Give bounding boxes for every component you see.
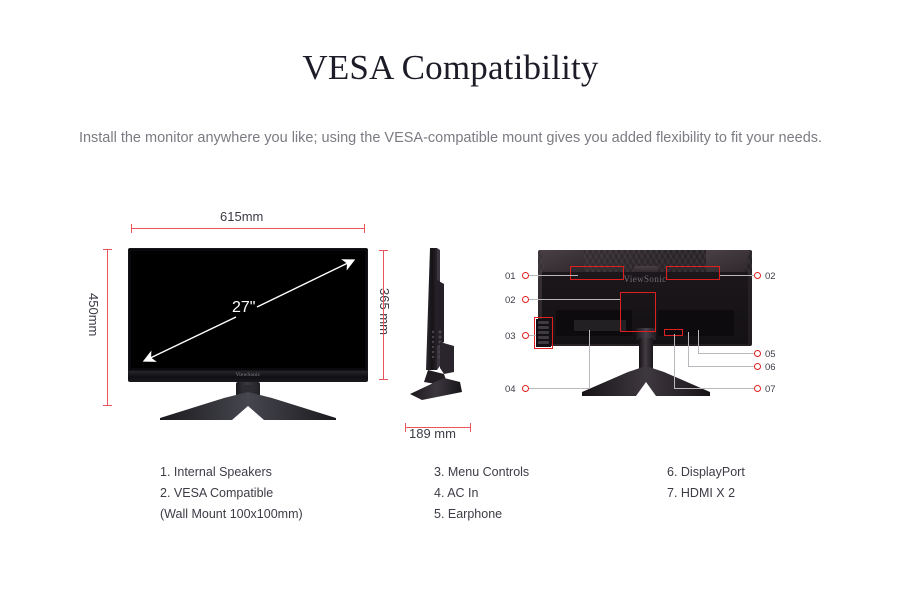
front-monitor-chin: ViewSonic — [128, 371, 368, 382]
rear-monitor-base — [582, 366, 710, 396]
highlight-speaker-left — [570, 266, 624, 280]
callout-label-04-left: 04 — [505, 384, 516, 395]
menu-button-1[interactable] — [538, 321, 549, 324]
menu-button-3[interactable] — [538, 331, 549, 334]
rear-vent-grille — [574, 320, 626, 331]
side-depth-label: 189 mm — [409, 426, 456, 441]
callout-label-06: 06 — [765, 362, 776, 373]
menu-control-pad[interactable] — [536, 319, 551, 347]
callout-leader-02-right — [720, 275, 755, 276]
callout-marker-04-left — [522, 385, 529, 392]
side-depth-cap-left — [405, 423, 406, 432]
callout-leader-05 — [698, 353, 755, 354]
front-height-cap-top — [103, 249, 112, 250]
legend-item: 1. Internal Speakers — [160, 462, 303, 483]
vesa-compatibility-page: VESA Compatibility Install the monitor a… — [0, 0, 901, 600]
legend-item: 4. AC In — [434, 483, 529, 504]
callout-leader-06 — [688, 366, 755, 367]
callout-marker-03-left — [522, 332, 529, 339]
front-brand-logo: ViewSonic — [128, 373, 368, 378]
callout-leader-01-left — [529, 275, 578, 276]
callout-leader-07-riser — [674, 334, 675, 388]
callout-label-02-left: 02 — [505, 295, 516, 306]
page-title: VESA Compatibility — [0, 48, 901, 88]
highlight-speaker-right — [666, 266, 720, 280]
legend-item: 5. Earphone — [434, 504, 529, 525]
front-right-height-line — [383, 250, 384, 380]
callout-marker-01-left — [522, 272, 529, 279]
menu-button-2[interactable] — [538, 326, 549, 329]
legend: 1. Internal Speakers 2. VESA Compatible … — [0, 462, 901, 524]
callout-marker-07 — [754, 385, 761, 392]
front-width-cap-left — [131, 224, 132, 233]
front-monitor-base — [160, 392, 336, 420]
callout-marker-02-left — [522, 296, 529, 303]
side-depth-cap-right — [470, 423, 471, 432]
front-depth-height-label: 365 mm — [377, 288, 392, 335]
callout-leader-07 — [674, 388, 755, 389]
front-height-label: 450mm — [86, 293, 101, 336]
legend-item: 2. VESA Compatible — [160, 483, 303, 504]
callout-marker-05 — [754, 350, 761, 357]
legend-column-1: 1. Internal Speakers 2. VESA Compatible … — [160, 462, 303, 525]
legend-item: 6. DisplayPort — [667, 462, 745, 483]
menu-button-5[interactable] — [538, 341, 549, 344]
callout-label-07: 07 — [765, 384, 776, 395]
menu-button-4[interactable] — [538, 336, 549, 339]
front-width-line — [131, 228, 365, 229]
front-right-cap-bottom — [379, 379, 388, 380]
front-height-line — [107, 249, 108, 406]
callout-leader-04-left — [529, 388, 590, 389]
callout-leader-03-left — [529, 335, 536, 336]
front-height-cap-bottom — [103, 405, 112, 406]
legend-item: 7. HDMI X 2 — [667, 483, 745, 504]
front-right-cap-top — [379, 250, 388, 251]
legend-item: 3. Menu Controls — [434, 462, 529, 483]
screen-diagonal-label: 27" — [232, 299, 255, 317]
highlight-vesa-mount — [620, 292, 656, 332]
callout-label-03-left: 03 — [505, 331, 516, 342]
page-subtitle: Install the monitor anywhere you like; u… — [68, 126, 833, 151]
callout-leader-02-left — [529, 299, 620, 300]
callout-marker-06 — [754, 363, 761, 370]
legend-column-3: 6. DisplayPort 7. HDMI X 2 — [667, 462, 745, 504]
front-width-label: 615mm — [220, 209, 263, 224]
side-monitor — [404, 246, 480, 406]
legend-column-2: 3. Menu Controls 4. AC In 5. Earphone — [434, 462, 529, 525]
callout-leader-05-riser — [698, 330, 699, 353]
callout-marker-02-right — [754, 272, 761, 279]
legend-item: (Wall Mount 100x100mm) — [160, 504, 303, 525]
callout-leader-04-riser — [589, 330, 590, 388]
callout-label-02-right: 02 — [765, 271, 776, 282]
callout-label-05: 05 — [765, 349, 776, 360]
front-width-cap-right — [364, 224, 365, 233]
callout-leader-06-riser — [688, 332, 689, 366]
callout-label-01-left: 01 — [505, 271, 516, 282]
